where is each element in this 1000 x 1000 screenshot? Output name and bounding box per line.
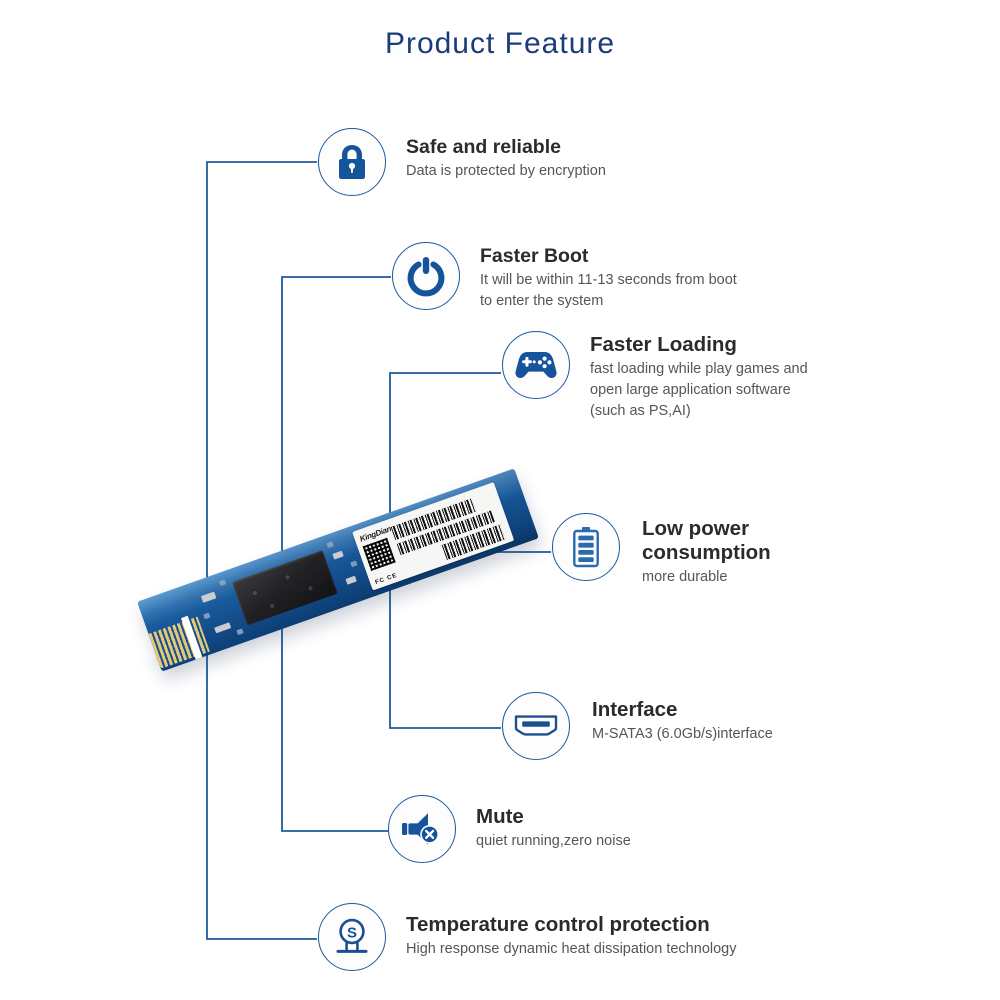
feature-safe-and-reliable: Safe and reliable Data is protected by e… [318,128,606,196]
feature-text: Safe and reliable Data is protected by e… [406,128,606,182]
connector-icon [502,692,570,760]
lock-icon [318,128,386,196]
gamepad-icon [502,331,570,399]
certification-marks: FC CE [375,573,399,586]
feature-text: Faster Boot It will be within 11-13 seco… [480,242,737,311]
feature-description: High response dynamic heat dissipation t… [406,939,736,960]
thermostat-sensor-icon: S [318,903,386,971]
pcb: KingDian FC CE [137,468,539,671]
feature-text: Low power consumption more durable [642,513,771,588]
feature-title: Faster Boot [480,245,737,268]
feature-title: Low power consumption [642,517,771,565]
feature-text: Interface M-SATA3 (6.0Gb/s)interface [592,692,773,745]
feature-title: Temperature control protection [406,913,736,937]
feature-temperature-control-protection: S Temperature control protection High re… [318,903,736,971]
feature-mute: Mute quiet running,zero noise [388,795,631,863]
feature-interface: Interface M-SATA3 (6.0Gb/s)interface [502,692,773,760]
product-feature-infographic: Product Feature [0,0,1000,1000]
feature-text: Faster Loading fast loading while play g… [590,331,808,421]
svg-text:S: S [347,924,357,941]
product-image: KingDian FC CE [120,455,560,685]
feature-description: quiet running,zero noise [476,831,631,852]
feature-description: M-SATA3 (6.0Gb/s)interface [592,724,773,745]
feature-low-power-consumption: Low power consumption more durable [552,513,771,588]
gold-contact-fingers [148,617,209,669]
feature-faster-boot: Faster Boot It will be within 11-13 seco… [392,242,737,311]
power-icon [392,242,460,310]
mute-speaker-icon [388,795,456,863]
feature-title: Mute [476,805,631,829]
feature-text: Mute quiet running,zero noise [476,795,631,852]
feature-title: Faster Loading [590,333,808,357]
feature-description: fast loading while play games and open l… [590,359,808,421]
feature-text: Temperature control protection High resp… [406,903,736,960]
page-title: Product Feature [0,27,1000,61]
feature-title: Safe and reliable [406,136,606,159]
feature-description: Data is protected by encryption [406,161,606,182]
feature-title: Interface [592,698,773,722]
qr-code [363,538,396,571]
feature-description: It will be within 11-13 seconds from boo… [480,270,737,311]
m2-ssd-board: KingDian FC CE [137,468,539,671]
feature-description: more durable [642,567,771,588]
feature-faster-loading: Faster Loading fast loading while play g… [502,331,808,421]
battery-icon [552,513,620,581]
